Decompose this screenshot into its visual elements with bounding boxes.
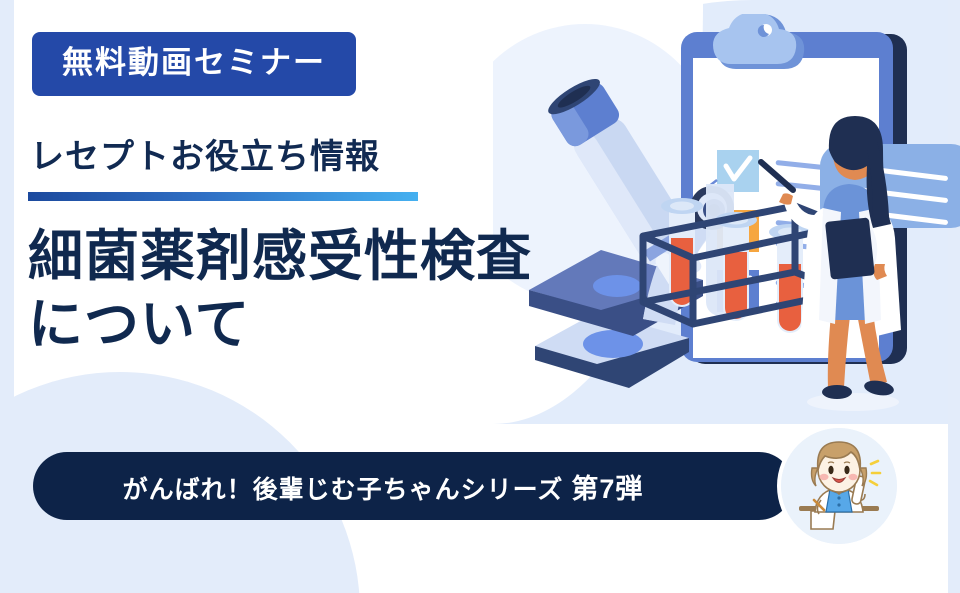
series-label: がんばれ！後輩じむ子ちゃんシリーズ [123, 476, 564, 504]
subtitle-underline [28, 192, 418, 201]
avatar [781, 428, 897, 544]
series-volume: 第7弾 [571, 474, 643, 504]
laboratory-illustration [493, 14, 960, 424]
series-ribbon-text: がんばれ！後輩じむ子ちゃんシリーズ 第7弾 [123, 467, 704, 506]
seminar-banner: 無料動画セミナー レセプトお役立ち情報 細菌薬剤感受性検査 について がんばれ！… [0, 0, 960, 593]
page-title: 細菌薬剤感受性検査 について [28, 222, 532, 358]
seminar-badge: 無料動画セミナー [32, 32, 356, 96]
page-title-line-1: 細菌薬剤感受性検査 [28, 222, 532, 290]
page-title-line-2: について [28, 290, 532, 358]
series-ribbon: がんばれ！後輩じむ子ちゃんシリーズ 第7弾 [33, 452, 793, 520]
cloud-clip-icon [713, 14, 804, 69]
subtitle: レセプトお役立ち情報 [30, 140, 380, 174]
